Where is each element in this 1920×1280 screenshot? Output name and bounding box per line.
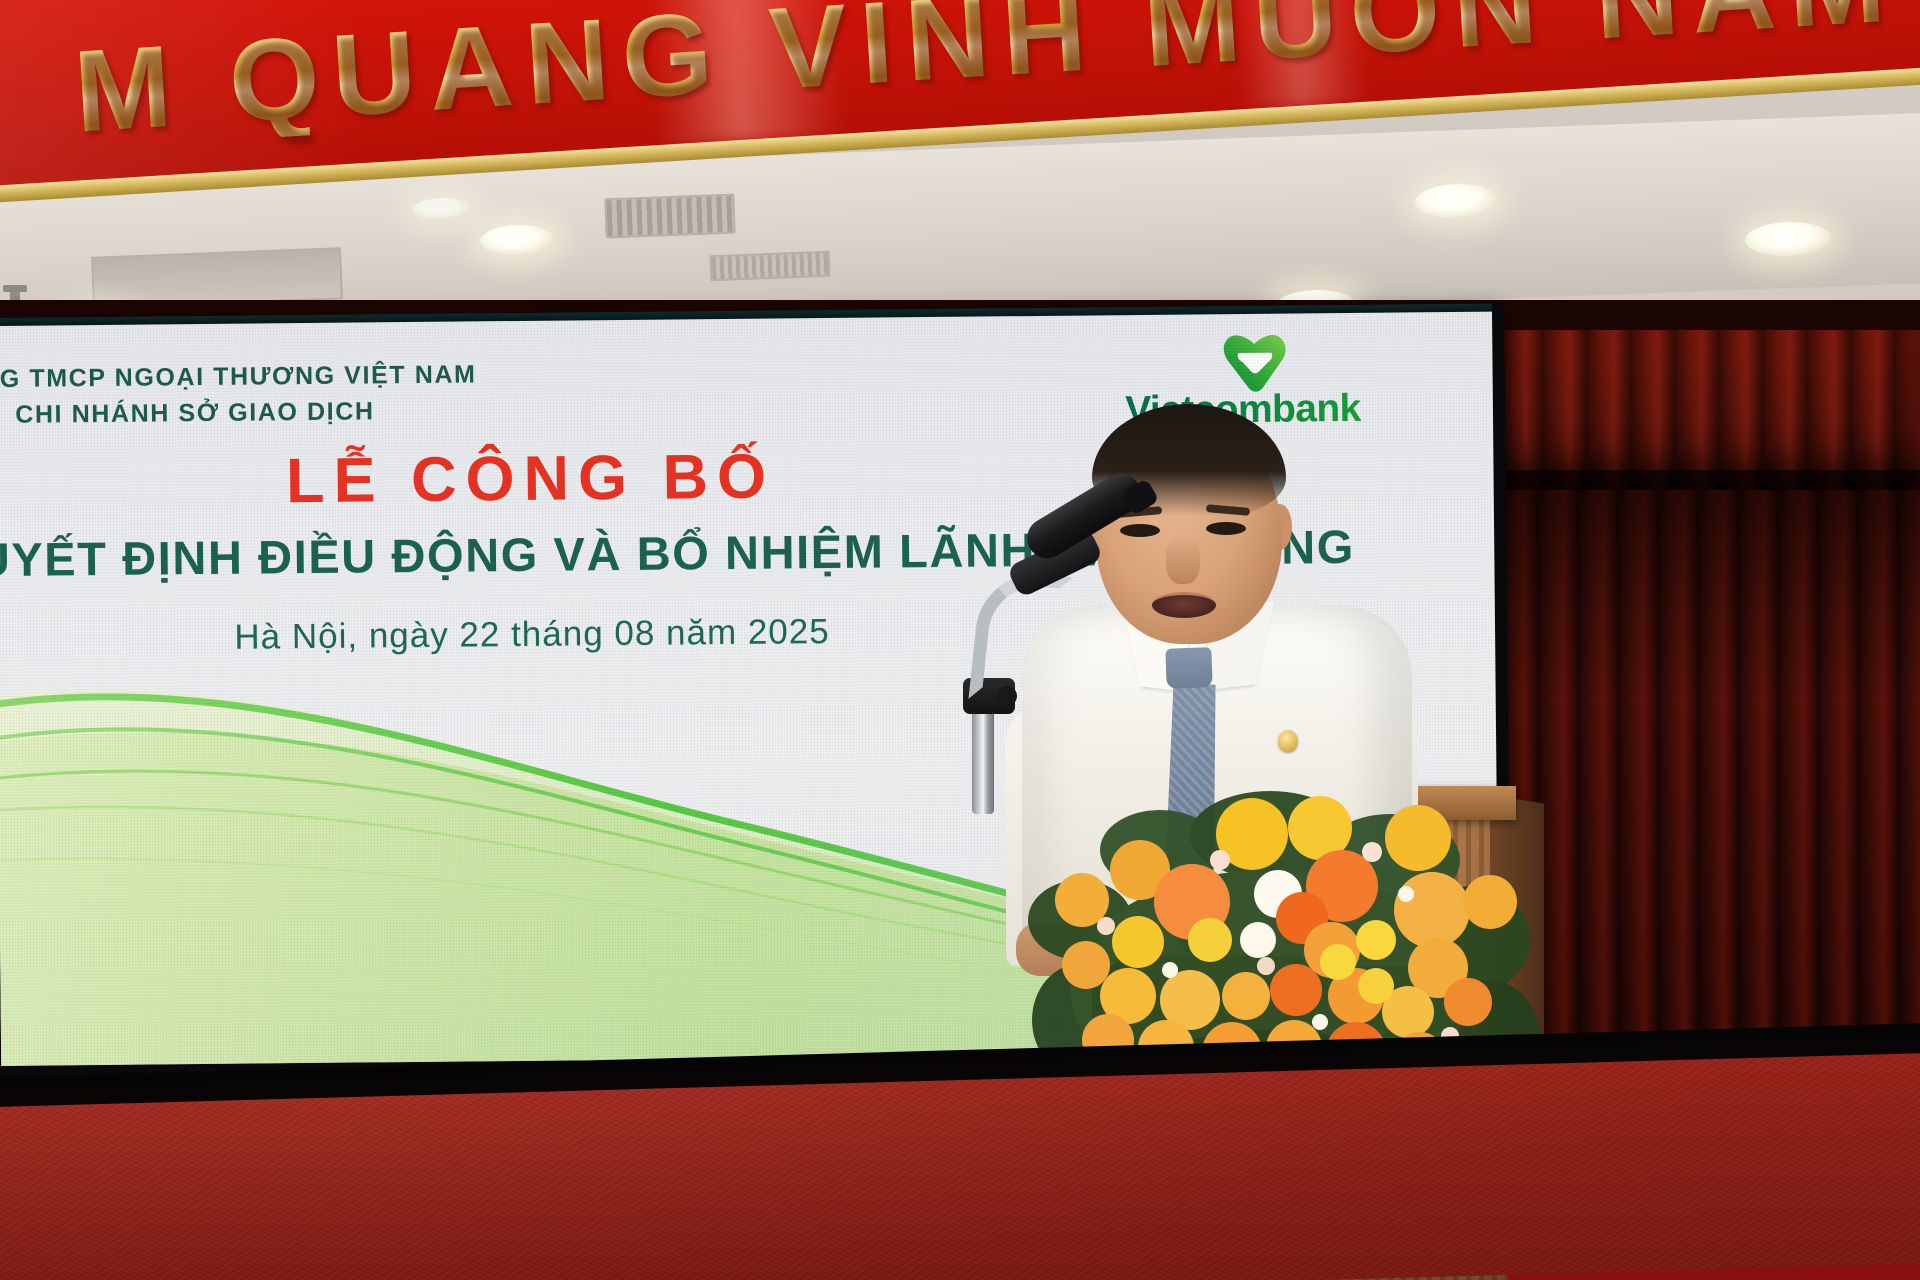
curtain-valance [1498, 330, 1920, 490]
lapel-pin-icon [1278, 730, 1298, 752]
slide-header-line2: CHI NHÁNH SỞ GIAO DỊCH [0, 392, 575, 435]
curtain-shadow [1498, 470, 1920, 700]
speaker-eye [1206, 522, 1246, 535]
air-vent-icon [604, 194, 735, 239]
slide-title: LỄ CÔNG BỐ [0, 438, 1066, 520]
vietcombank-mark-icon [1218, 332, 1291, 395]
air-vent-icon [710, 251, 831, 282]
slide-header: N HÀNG TMCP NGOẠI THƯƠNG VIỆT NAM CHI NH… [0, 356, 575, 434]
conference-photo-scene: M QUANG VINH MUÔN NĂM [0, 0, 1920, 1280]
speaker-mouth [1152, 592, 1216, 618]
speaker-nose [1166, 536, 1200, 584]
necktie-knot [1165, 647, 1212, 689]
microphone [965, 500, 1145, 810]
